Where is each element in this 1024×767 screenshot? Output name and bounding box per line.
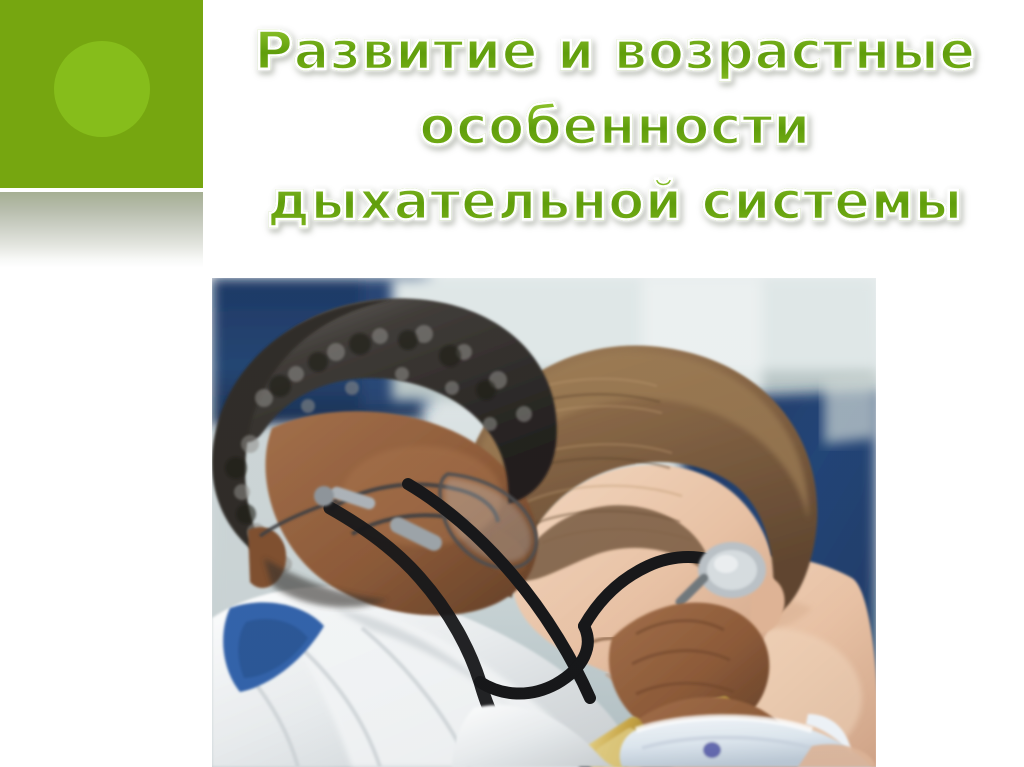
slide-photo [212, 278, 876, 767]
title-line-1: Развитие и возрастные [206, 14, 1024, 89]
photo-illustration [212, 278, 876, 767]
decorative-gradient-strip [0, 192, 203, 268]
title-line-2: особенности [206, 89, 1024, 164]
decorative-circle [54, 41, 150, 137]
title-line-3: дыхательной системы [206, 164, 1024, 239]
page-title: Развитие и возрастные особенности дыхате… [206, 14, 1024, 239]
decorative-green-block [0, 0, 203, 188]
slide-canvas: Развитие и возрастные особенности дыхате… [0, 0, 1024, 767]
